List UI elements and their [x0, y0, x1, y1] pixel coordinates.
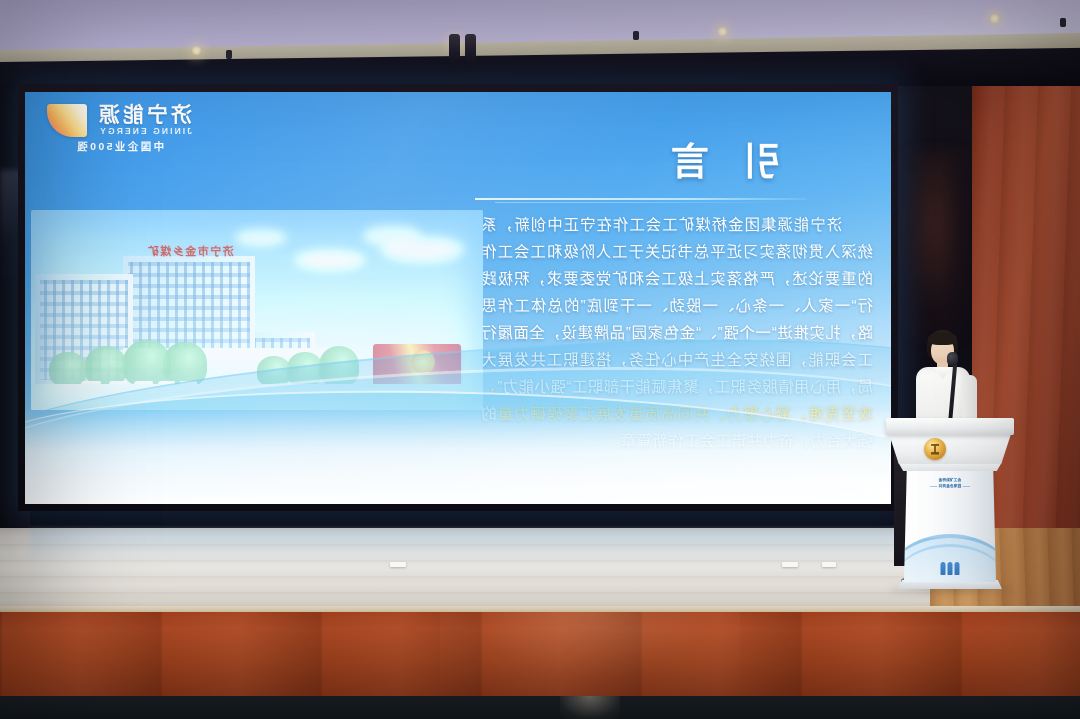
spotlight-housing: [633, 31, 639, 40]
floor-tape-marker: [390, 562, 406, 567]
spotlight-housing: [226, 50, 232, 59]
stage-front-highlight: [440, 612, 740, 698]
fan-gradient-mark-icon: [47, 104, 87, 137]
slide-logo-block: 济宁能源 JINING ENERGY 中国企业500强: [47, 104, 192, 153]
stage-floor-reflection: [30, 528, 900, 584]
podium-desktop[interactable]: [886, 418, 1014, 435]
podium-head: [889, 434, 1011, 464]
floor-tape-marker: [822, 562, 836, 567]
spotlight-housing: [1060, 18, 1066, 27]
logo-text-group: 济宁能源 JINING ENERGY: [96, 105, 192, 136]
wall-light-glow: [900, 150, 970, 340]
slide-bottom-fade: [25, 408, 891, 504]
logo-subtitle: 中国企业500强: [75, 142, 164, 153]
body-quote-1: “一家人、一条心、一股劲、一干到底”: [580, 298, 856, 315]
heading-divider-secondary: [495, 202, 795, 203]
stage-base-glint: [560, 696, 620, 719]
logo-company-en: JINING ENERGY: [98, 127, 192, 136]
podium-and-speaker-group: 金桥煤矿工会 —— 共筑金色家园 ——: [880, 330, 1020, 596]
slide-heading: 引言: [637, 144, 781, 182]
floor-tape-marker: [782, 562, 798, 567]
spotlight-icon: [990, 14, 999, 23]
conference-stage-scene: 济宁能源 JINING ENERGY 中国企业500强 引言 济宁能源集团金桥煤…: [0, 0, 1080, 719]
heading-divider: [475, 198, 807, 200]
stage-base-strip: [0, 696, 1080, 719]
logo-company-cn: 济宁能源: [96, 105, 192, 126]
spotlight-icon: [718, 27, 727, 36]
microphone-icon: [947, 352, 958, 366]
spotlight-icon: [192, 46, 201, 55]
podium-front-panel[interactable]: 金桥煤矿工会 —— 共筑金色家园 ——: [904, 470, 996, 582]
led-presentation-screen[interactable]: 济宁能源 JINING ENERGY 中国企业500强 引言 济宁能源集团金桥煤…: [25, 92, 891, 504]
logo-row: 济宁能源 JINING ENERGY: [47, 104, 192, 137]
projector-mount-icon: [449, 34, 481, 70]
podium-figures-graphic: [941, 562, 960, 575]
speaker-hair-fringe: [928, 332, 957, 345]
chinese-trade-union-emblem-icon: [924, 438, 946, 460]
podium-banner-text: 金桥煤矿工会 —— 共筑金色家园 ——: [919, 477, 981, 489]
